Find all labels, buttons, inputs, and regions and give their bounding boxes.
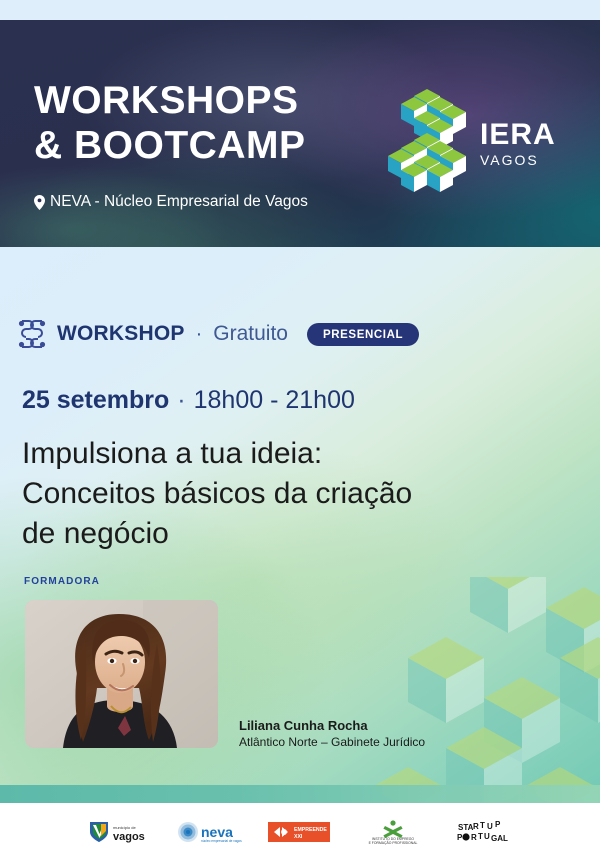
svg-text:R: R (473, 822, 479, 831)
cube-pattern-watermark (350, 577, 600, 803)
event-price-label: Gratuito (213, 322, 288, 346)
svg-text:EMPREENDE: EMPREENDE (294, 827, 327, 833)
poster-header: WORKSHOPS & BOOTCAMP NEVA - Núcleo Empre… (0, 20, 600, 247)
event-time: 18h00 - 21h00 (194, 386, 355, 415)
event-date: 25 setembro (22, 386, 169, 415)
svg-text:T: T (480, 821, 485, 830)
svg-text:STA: STA (458, 823, 474, 832)
header-title: WORKSHOPS & BOOTCAMP (34, 78, 306, 168)
event-type-separator: · (196, 323, 203, 346)
svg-text:P: P (495, 820, 501, 829)
neva-logo: neva núcleo empresarial de vagos (176, 820, 242, 844)
municipio-vagos-logo: município de vagos (88, 820, 150, 844)
bottom-teal-strip (0, 785, 600, 803)
svg-text:R: R (471, 833, 477, 842)
iera-logo: IERA VAGOS (388, 88, 558, 198)
workshop-cube-icon (16, 318, 48, 350)
event-title: Impulsiona a tua ideia: Conceitos básico… (22, 434, 542, 554)
svg-text:P: P (457, 833, 463, 842)
svg-text:E FORMAÇÃO PROFISSIONAL: E FORMAÇÃO PROFISSIONAL (369, 840, 418, 845)
header-location: NEVA - Núcleo Empresarial de Vagos (34, 193, 308, 211)
svg-text:município de: município de (113, 825, 136, 830)
status-badge: PRESENCIAL (307, 323, 419, 346)
event-date-separator: · (177, 386, 185, 415)
iera-cubes-logo (388, 89, 466, 197)
event-type-label: WORKSHOP (57, 322, 185, 346)
svg-text:U: U (484, 832, 490, 841)
trainer-organization: Atlântico Norte – Gabinete Jurídico (239, 735, 425, 749)
iefp-logo: INSTITUTO DO EMPREGO E FORMAÇÃO PROFISSI… (356, 819, 430, 845)
header-location-text: NEVA - Núcleo Empresarial de Vagos (50, 193, 308, 211)
svg-text:U: U (487, 822, 493, 831)
map-pin-icon (34, 195, 45, 210)
event-date-row: 25 setembro · 18h00 - 21h00 (22, 386, 355, 415)
footer-logo-bar: município de vagos neva núcleo empresari… (0, 803, 600, 860)
svg-text:vagos: vagos (113, 831, 145, 843)
startup-portugal-logo: STA R T U P P R T U GAL (456, 820, 512, 844)
event-poster: WORKSHOPS & BOOTCAMP NEVA - Núcleo Empre… (0, 0, 600, 860)
svg-text:núcleo empresarial de vagos: núcleo empresarial de vagos (201, 839, 242, 843)
empreende-xxi-logo: EMPREENDE XXI (268, 822, 330, 842)
trainer-section-label: FORMADORA (24, 576, 100, 587)
iera-name: IERA (480, 120, 556, 150)
svg-text:XXI: XXI (294, 834, 303, 840)
trainer-photo (25, 600, 218, 748)
top-accent-band (0, 0, 600, 20)
iera-wordmark: IERA VAGOS (480, 120, 556, 167)
svg-text:GAL: GAL (491, 834, 508, 843)
svg-text:T: T (478, 832, 483, 841)
event-type-row: WORKSHOP · Gratuito PRESENCIAL (16, 318, 419, 350)
svg-text:neva: neva (201, 824, 233, 840)
iera-sub: VAGOS (480, 153, 556, 167)
trainer-name: Liliana Cunha Rocha (239, 718, 368, 733)
